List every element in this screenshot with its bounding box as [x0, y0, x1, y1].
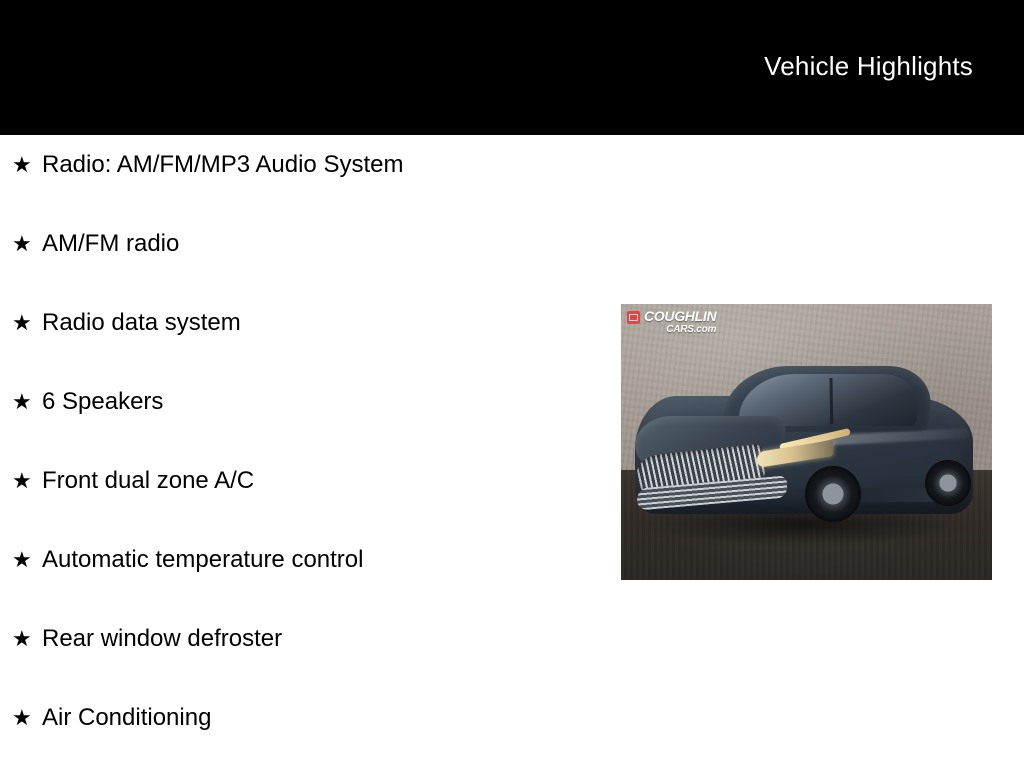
highlight-label: Air Conditioning [42, 701, 211, 734]
star-bullet-icon: ★ [12, 227, 42, 260]
list-item: ★ Rear window defroster [0, 622, 600, 701]
highlight-label: 6 Speakers [42, 385, 163, 418]
highlight-label: Front dual zone A/C [42, 464, 254, 497]
highlight-label: Rear window defroster [42, 622, 282, 655]
car-front-wheel [805, 466, 861, 522]
list-item: ★ Front dual zone A/C [0, 464, 600, 543]
dealer-watermark: COUGHLIN CARS.com [627, 309, 716, 335]
header-band: Vehicle Highlights [0, 0, 1024, 135]
list-item: ★ Radio data system [0, 306, 600, 385]
star-bullet-icon: ★ [12, 385, 42, 418]
highlight-label: Radio data system [42, 306, 241, 339]
car-rear-wheel [925, 460, 971, 506]
highlight-label: Automatic temperature control [42, 543, 363, 576]
vehicle-highlights-list: ★ Radio: AM/FM/MP3 Audio System ★ AM/FM … [0, 148, 600, 780]
list-item: ★ 6 Speakers [0, 385, 600, 464]
star-bullet-icon: ★ [12, 622, 42, 655]
watermark-text: COUGHLIN CARS.com [644, 309, 716, 335]
watermark-subtitle: CARS.com [666, 325, 716, 335]
star-bullet-icon: ★ [12, 701, 42, 734]
vehicle-photo: COUGHLIN CARS.com [621, 304, 992, 580]
star-bullet-icon: ★ [12, 306, 42, 339]
list-item: ★ Radio: AM/FM/MP3 Audio System [0, 148, 600, 227]
star-bullet-icon: ★ [12, 543, 42, 576]
car-illustration [629, 360, 984, 550]
list-item: ★ AM/FM radio [0, 227, 600, 306]
star-bullet-icon: ★ [12, 464, 42, 497]
star-bullet-icon: ★ [12, 148, 42, 181]
list-item: ★ Automatic temperature control [0, 543, 600, 622]
highlight-label: AM/FM radio [42, 227, 179, 260]
highlight-label: Radio: AM/FM/MP3 Audio System [42, 148, 403, 181]
page-title: Vehicle Highlights [764, 50, 973, 82]
coughlin-logo-icon [627, 311, 640, 324]
watermark-brand: COUGHLIN [644, 309, 716, 323]
list-item: ★ Air Conditioning [0, 701, 600, 780]
